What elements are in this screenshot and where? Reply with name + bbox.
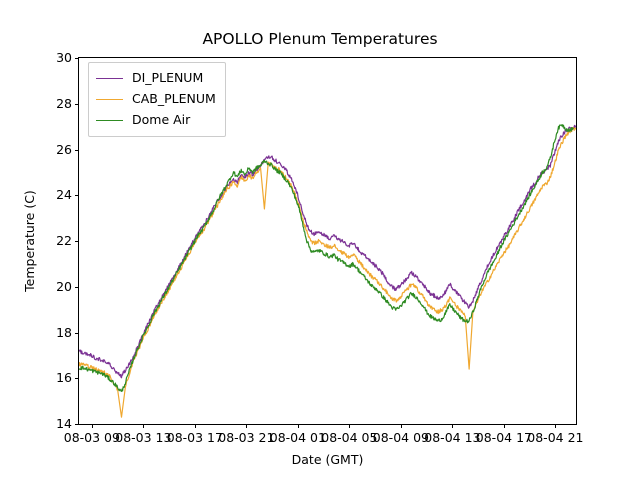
legend-color-swatch (96, 120, 123, 121)
legend-item-label: CAB_PLENUM (132, 93, 216, 106)
legend: DI_PLENUMCAB_PLENUMDome Air (88, 62, 226, 137)
y-tick-text: 22 (44, 233, 72, 248)
y-tick-label: 16 (44, 370, 72, 386)
y-tick-text: 20 (44, 279, 72, 294)
y-tick-text: 24 (44, 187, 72, 202)
y-tick-text: 30 (44, 50, 72, 65)
legend-color-swatch (96, 99, 123, 100)
y-tick-label: 30 (44, 50, 72, 66)
legend-item[interactable]: Dome Air (96, 110, 216, 131)
series-line-dome-air (79, 125, 573, 392)
figure-canvas: APOLLO Plenum Temperatures Temperature (… (0, 0, 640, 480)
y-tick-label: 24 (44, 187, 72, 203)
y-tick-label: 28 (44, 96, 72, 112)
y-tick-label: 26 (44, 142, 72, 158)
legend-color-swatch (96, 78, 123, 79)
y-tick-label: 18 (44, 325, 72, 341)
y-axis-label: Temperature (C) (22, 57, 40, 425)
y-tick-label: 22 (44, 233, 72, 249)
series-line-cab-plenum (79, 128, 576, 418)
y-tick-text: 26 (44, 142, 72, 157)
x-tick-label: 08-04 21 (495, 430, 615, 445)
legend-item[interactable]: CAB_PLENUM (96, 89, 216, 110)
series-line-di-plenum (79, 125, 576, 377)
y-tick-text: 18 (44, 325, 72, 340)
page-title: APOLLO Plenum Temperatures (0, 30, 640, 48)
y-tick-label: 20 (44, 279, 72, 295)
x-axis-label: Date (GMT) (78, 452, 577, 467)
legend-item[interactable]: DI_PLENUM (96, 68, 216, 89)
y-tick-text: 16 (44, 370, 72, 385)
y-tick-text: 28 (44, 96, 72, 111)
legend-item-label: Dome Air (132, 114, 190, 127)
legend-item-label: DI_PLENUM (132, 72, 203, 85)
y-tick-text: 14 (44, 416, 72, 431)
